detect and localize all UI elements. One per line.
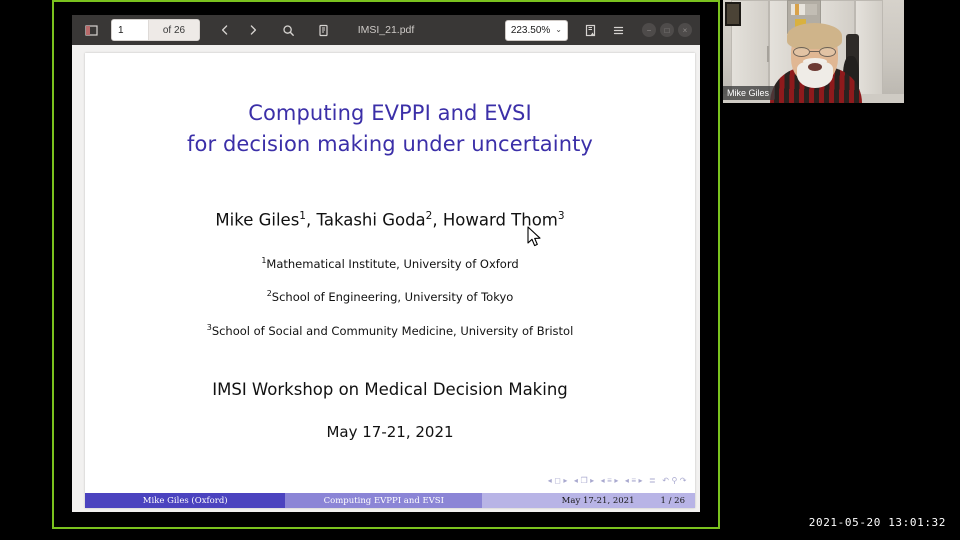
wall-picture-frame [725, 2, 741, 26]
nav-section-group[interactable]: ◂ ≡ ▸ [625, 476, 643, 485]
webcam-video-tile[interactable]: Mike Giles [723, 0, 904, 103]
author-3-name: Howard Thom [443, 211, 558, 230]
nav-forward-triangle-icon[interactable]: ▸ [563, 476, 568, 485]
hamburger-menu-icon[interactable] [606, 19, 630, 41]
slide-page: Computing EVPPI and EVSI for decision ma… [85, 53, 695, 508]
nav-subsection-forward-icon[interactable]: ▸ [614, 476, 619, 485]
glasses-right-lens [819, 47, 836, 57]
nav-forward-icon[interactable]: ↷ [680, 476, 687, 485]
toolbar-right-group: 223.50% ⌄ − □ × [505, 19, 695, 41]
slide-date: May 17-21, 2021 [85, 423, 695, 441]
chevron-right-icon[interactable] [241, 19, 265, 41]
pdf-viewer-window: 1 of 26 IMSI_ [72, 15, 700, 512]
author-1-superscript: 1 [299, 210, 306, 222]
nav-section-forward-icon[interactable]: ▸ [639, 476, 644, 485]
footline-page-number: 1 / 26 [661, 496, 686, 506]
footline-date-text: May 17-21, 2021 [562, 496, 635, 506]
author-separator-2: , [432, 211, 443, 230]
nav-section-back-icon[interactable]: ◂ [625, 476, 630, 485]
nav-subsection-group[interactable]: ◂ ≡ ▸ [601, 476, 619, 485]
author-3-superscript: 3 [558, 210, 565, 222]
person-glasses [793, 47, 836, 57]
nav-frame-icon[interactable]: ❐ [580, 476, 588, 485]
cabinet-handle-1 [767, 46, 769, 62]
window-controls: − □ × [638, 23, 692, 37]
slide-footline: Mike Giles (Oxford) Computing EVPPI and … [85, 493, 695, 508]
footline-date-page: May 17-21, 2021 1 / 26 [482, 493, 695, 508]
bookmark-icon[interactable] [578, 19, 602, 41]
affiliation-1: 1Mathematical Institute, University of O… [85, 256, 695, 271]
workshop-name: IMSI Workshop on Medical Decision Making [85, 380, 695, 399]
person-hair [787, 23, 842, 49]
chevron-left-icon[interactable] [213, 19, 237, 41]
nav-search-icon[interactable]: ⚲ [671, 476, 677, 485]
nav-document-icon[interactable]: ≣ [649, 476, 656, 485]
page-number-box[interactable]: 1 of 26 [111, 19, 200, 41]
nav-frame-back-icon[interactable]: ◂ [574, 476, 579, 485]
affiliation-3: 3School of Social and Community Medicine… [85, 323, 695, 338]
search-icon[interactable] [276, 19, 300, 41]
slide-title: Computing EVPPI and EVSI for decision ma… [85, 98, 695, 160]
document-scroll-area[interactable]: Computing EVPPI and EVSI for decision ma… [72, 45, 700, 512]
page-total-label: of 26 [149, 20, 199, 40]
nav-subsection-icon[interactable]: ≡ [607, 476, 612, 485]
annotation-icon[interactable] [311, 19, 335, 41]
cabinet-door-4 [855, 0, 883, 103]
page-number-input[interactable]: 1 [112, 20, 149, 40]
affiliation-2-text: School of Engineering, University of Tok… [272, 290, 514, 304]
close-button[interactable]: × [678, 23, 692, 37]
participant-name-label: Mike Giles [723, 86, 775, 100]
nav-history-group[interactable]: ↶ ⚲ ↷ [662, 476, 687, 485]
person-mouth [808, 63, 822, 71]
zoom-level-select[interactable]: 223.50% ⌄ [505, 20, 568, 41]
nav-frame-forward-icon[interactable]: ▸ [590, 476, 595, 485]
footline-title: Computing EVPPI and EVSI [285, 493, 482, 508]
sidebar-toggle-icon[interactable] [79, 19, 103, 41]
chevron-down-icon: ⌄ [555, 26, 562, 34]
slide-title-line-2: for decision making under uncertainty [85, 129, 695, 160]
authors-line: Mike Giles1, Takashi Goda2, Howard Thom3 [85, 210, 695, 230]
author-1-name: Mike Giles [215, 211, 299, 230]
affiliation-1-text: Mathematical Institute, University of Ox… [266, 256, 518, 270]
nav-slide-group[interactable]: ◂ ◻ ▸ [548, 476, 568, 485]
books-on-shelf [791, 4, 817, 15]
zoom-level-value: 223.50% [511, 25, 550, 36]
affiliation-2: 2School of Engineering, University of To… [85, 289, 695, 304]
nav-subsection-back-icon[interactable]: ◂ [601, 476, 606, 485]
maximize-button[interactable]: □ [660, 23, 674, 37]
author-separator-1: , [306, 211, 317, 230]
pdf-toolbar: 1 of 26 IMSI_ [72, 15, 700, 45]
author-2-name: Takashi Goda [316, 211, 425, 230]
glasses-bridge [810, 51, 819, 52]
nav-section-icon[interactable]: ≡ [631, 476, 636, 485]
beamer-navigation-symbols: ◂ ◻ ▸ ◂ ❐ ▸ ◂ ≡ ▸ ◂ ≡ ▸ [548, 476, 687, 485]
glasses-left-lens [793, 47, 810, 57]
minimize-button[interactable]: − [642, 23, 656, 37]
nav-slide-icon[interactable]: ◻ [554, 476, 561, 485]
nav-back-triangle-icon[interactable]: ◂ [548, 476, 553, 485]
affiliation-3-text: School of Social and Community Medicine,… [212, 324, 573, 338]
nav-frame-group[interactable]: ◂ ❐ ▸ [574, 476, 595, 485]
footline-author: Mike Giles (Oxford) [85, 493, 285, 508]
slide-title-line-1: Computing EVPPI and EVSI [85, 98, 695, 129]
nav-back-icon[interactable]: ↶ [662, 476, 669, 485]
recording-timestamp: 2021-05-20 13:01:32 [809, 516, 946, 529]
